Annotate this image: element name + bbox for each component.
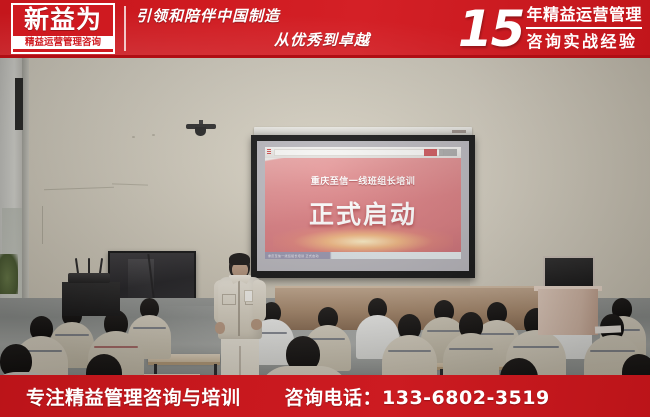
ceiling-projector-icon bbox=[186, 120, 216, 134]
door-frame bbox=[22, 58, 29, 310]
uniform-stripe bbox=[133, 327, 166, 329]
slide-logo-mark bbox=[424, 149, 437, 156]
presenter-badge bbox=[244, 290, 253, 302]
presenter-leg-seam bbox=[239, 346, 241, 375]
wall-mark bbox=[152, 134, 155, 136]
wall-mark bbox=[132, 136, 135, 138]
slide-topbar-field bbox=[274, 149, 444, 156]
door-dark-panel bbox=[15, 78, 23, 130]
uniform-stripe bbox=[388, 350, 431, 352]
presentation-slide: 重庆至信一线班组长培训 正式启动 重庆至信一线班组长培训 正式启动 bbox=[265, 147, 461, 259]
uniform-stripe bbox=[55, 334, 89, 336]
presenter-shirt-placket bbox=[238, 280, 240, 336]
company-logo: 新益为 精益运营管理咨询 bbox=[11, 3, 115, 54]
header-slogan: 引领和陪伴中国制造 从优秀到卓越 bbox=[134, 4, 384, 54]
uniform-stripe bbox=[449, 348, 493, 350]
training-photo: 重庆至信一线班组长培训 正式启动 重庆至信一线班组长培训 正式启动 bbox=[0, 58, 650, 375]
presenter-hair bbox=[229, 253, 250, 265]
router-antenna bbox=[88, 258, 90, 274]
potted-plant bbox=[0, 254, 18, 294]
uniform-stripe bbox=[311, 338, 345, 340]
slide-footer-text: 重庆至信一线班组长培训 正式启动 bbox=[268, 254, 319, 258]
presenter-pocket bbox=[222, 294, 236, 305]
experience-text: 年精益运营管理 咨询实战经验 bbox=[526, 4, 642, 53]
slide-corner-logo bbox=[424, 149, 458, 156]
lectern-podium bbox=[538, 289, 598, 335]
slide-footer-bar: 重庆至信一线班组长培训 正式启动 bbox=[265, 252, 461, 259]
uniform-stripe bbox=[590, 350, 635, 352]
slide-topbar bbox=[265, 147, 461, 158]
presenter-right-hand bbox=[251, 319, 262, 330]
footer-tagline: 专注精益管理咨询与培训 bbox=[26, 383, 241, 410]
projection-screen: 重庆至信一线班组长培训 正式启动 重庆至信一线班组长培训 正式启动 bbox=[257, 141, 469, 271]
audience-head bbox=[0, 344, 32, 375]
presenter-right-arm bbox=[253, 280, 266, 322]
logo-company-name: 新益为 bbox=[24, 6, 102, 34]
wall-mark bbox=[42, 206, 43, 244]
experience-years-number: 15 bbox=[458, 4, 524, 54]
slogan-line-1: 引领和陪伴中国制造 bbox=[134, 4, 384, 28]
promotional-banner-image: 新益为 精益运营管理咨询 引领和陪伴中国制造 从优秀到卓越 15 年精益运营管理… bbox=[0, 0, 650, 417]
presenter-left-hand bbox=[215, 322, 225, 334]
uniform-stripe bbox=[427, 330, 460, 332]
experience-line-1: 年精益运营管理 bbox=[526, 4, 642, 29]
slogan-line-2: 从优秀到卓越 bbox=[134, 28, 384, 52]
housing-label bbox=[452, 130, 466, 133]
experience-badge: 15 年精益运营管理 咨询实战经验 bbox=[458, 1, 642, 56]
header-banner: 新益为 精益运营管理咨询 引领和陪伴中国制造 从优秀到卓越 15 年精益运营管理… bbox=[0, 0, 650, 57]
podium-monitor bbox=[543, 256, 595, 288]
header-divider bbox=[124, 6, 126, 51]
equipment-cabinet bbox=[62, 282, 120, 316]
experience-line-2: 咨询实战经验 bbox=[526, 29, 642, 53]
podium-papers bbox=[595, 325, 621, 333]
uniform-stripe bbox=[513, 346, 559, 348]
desk-edge bbox=[148, 362, 220, 365]
slide-logo-text bbox=[439, 149, 457, 156]
wifi-router bbox=[68, 273, 110, 283]
projector-lens bbox=[195, 127, 206, 136]
uniform-stripe bbox=[94, 346, 138, 348]
slide-subtitle: 重庆至信一线班组长培训 bbox=[265, 174, 461, 187]
desk-leg bbox=[214, 364, 217, 375]
footer-contact: 咨询电话：133-6802-3519 bbox=[285, 383, 550, 410]
uniform-stripe bbox=[480, 333, 514, 335]
slide-light-burst bbox=[273, 225, 453, 255]
logo-tagline: 精益运营管理咨询 bbox=[13, 36, 113, 49]
slide-topbar-dots-icon bbox=[267, 149, 272, 156]
footer-banner: 专注精益管理咨询与培训 咨询电话：133-6802-3519 bbox=[0, 375, 650, 417]
